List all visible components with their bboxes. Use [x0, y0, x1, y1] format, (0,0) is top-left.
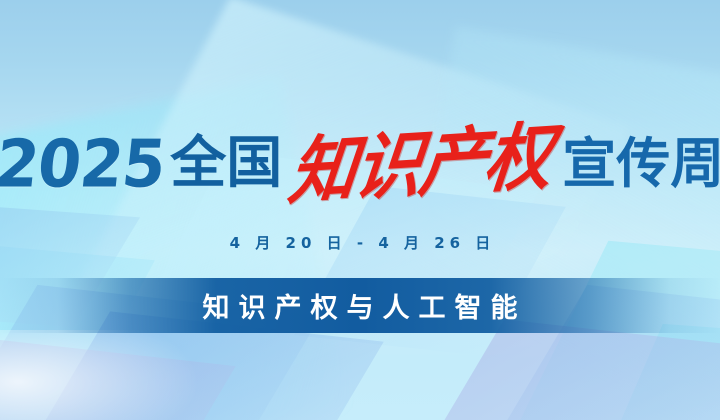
ip-week-banner: 2025 全国 知识产权 宣传周 4 月 20 日 - 4 月 26 日 知识产… [0, 0, 720, 420]
headline-year: 2025 [0, 131, 168, 197]
banner-content: 2025 全国 知识产权 宣传周 4 月 20 日 - 4 月 26 日 知识产… [0, 0, 720, 420]
banner-subtitle: 知识产权与人工智能 [0, 278, 720, 333]
banner-dateline: 4 月 20 日 - 4 月 26 日 [0, 232, 720, 253]
headline-national-label: 全国 [170, 136, 282, 192]
headline-publicity-week: 宣传周 [562, 137, 720, 191]
banner-headline: 2025 全国 知识产权 宣传周 [0, 118, 720, 210]
headline-calligraphy-ip: 知识产权 [286, 119, 555, 208]
